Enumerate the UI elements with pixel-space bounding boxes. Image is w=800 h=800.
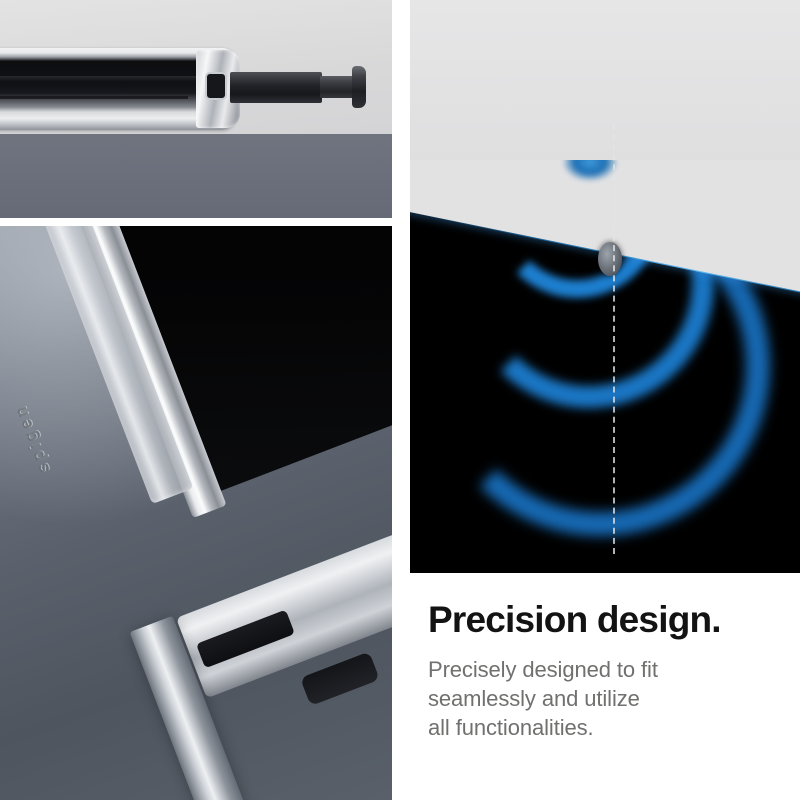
- alignment-dashed-line: [613, 124, 615, 554]
- sound-wave-stage: [410, 104, 800, 573]
- panel-sound-tunnel-tech: ⟨⟨SOUND⟩⟩ TUNNEL TECH: [410, 0, 800, 573]
- marketing-copy-block: Precision design. Precisely designed to …: [428, 600, 788, 742]
- headline: Precision design.: [428, 600, 788, 641]
- s-pen-end-cap: [352, 66, 366, 108]
- body-line-3: all functionalities.: [428, 713, 788, 742]
- panel-pen-slot-photo: [0, 0, 392, 218]
- case-seam-line: [0, 76, 210, 81]
- body-copy: Precisely designed to fit seamlessly and…: [428, 655, 788, 743]
- backdrop-surface: [0, 134, 392, 218]
- pen-slot-opening: [205, 72, 227, 100]
- body-line-2: seamlessly and utilize: [428, 684, 788, 713]
- speaker-port: [598, 242, 622, 276]
- panel-pen-case-photo: spigen: [0, 226, 392, 800]
- sound-header-backdrop: [410, 0, 800, 160]
- s-pen-neck: [320, 76, 356, 98]
- product-feature-sheet: spigen ⟨⟨SOUND⟩⟩ TUNNEL TECH: [0, 0, 800, 800]
- s-pen-shaft: [230, 72, 322, 103]
- case-seam-line-secondary: [0, 96, 188, 99]
- body-line-1: Precisely designed to fit: [428, 655, 788, 684]
